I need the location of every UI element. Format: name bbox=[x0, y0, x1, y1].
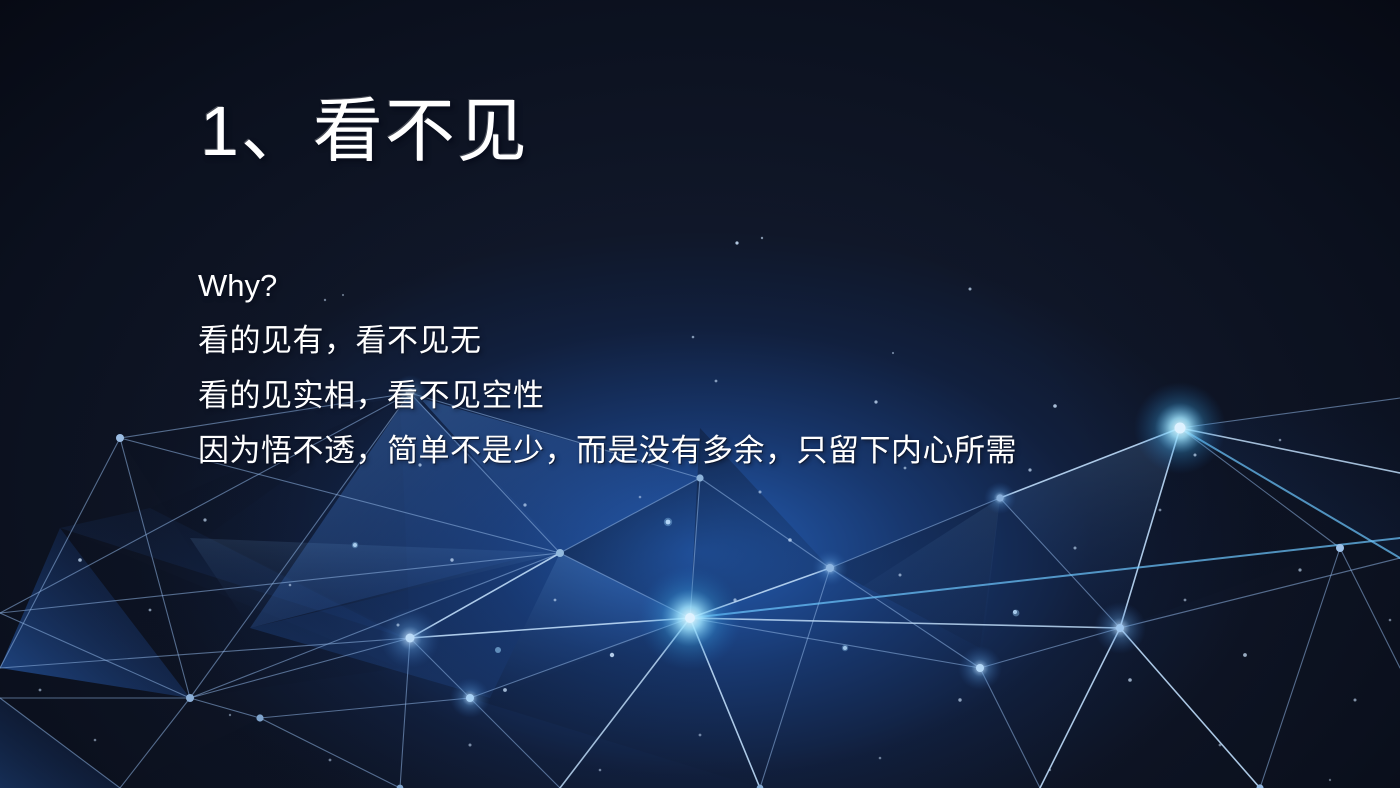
body-line-4: 因为悟不透，简单不是少，而是没有多余，只留下内心所需 bbox=[198, 423, 1298, 478]
body-line-3: 看的见实相，看不见空性 bbox=[198, 368, 1298, 423]
body-line-2: 看的见有，看不见无 bbox=[198, 313, 1298, 368]
slide-content: 1、看不见 Why? 看的见有，看不见无 看的见实相，看不见空性 因为悟不透，简… bbox=[0, 0, 1400, 788]
presentation-slide: 1、看不见 Why? 看的见有，看不见无 看的见实相，看不见空性 因为悟不透，简… bbox=[0, 0, 1400, 788]
page-title: 1、看不见 bbox=[200, 92, 529, 170]
body-line-1: Why? bbox=[198, 258, 1298, 313]
body-text-block: Why? 看的见有，看不见无 看的见实相，看不见空性 因为悟不透，简单不是少，而… bbox=[198, 258, 1298, 478]
